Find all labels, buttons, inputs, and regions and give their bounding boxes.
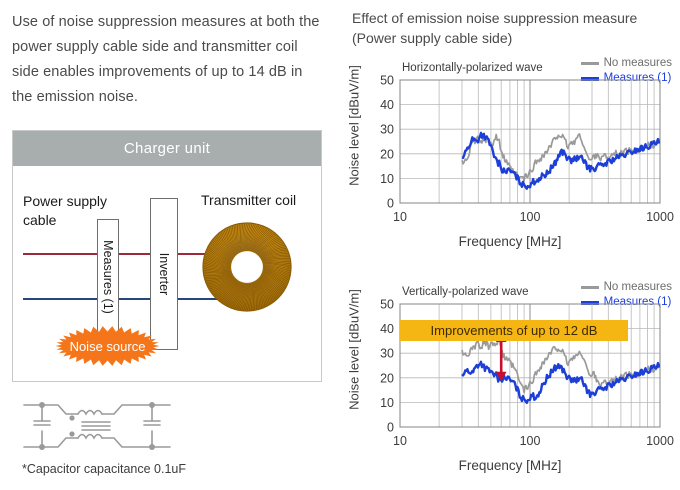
left-column: Use of noise suppression measures at bot…: [0, 0, 340, 490]
improvement-banner: Improvements of up to 12 dB: [400, 320, 628, 341]
capacitor-note: *Capacitor capacitance 0.1uF: [22, 462, 186, 476]
svg-text:10: 10: [380, 396, 394, 410]
diagram-body: Power supply cable Transmitter coil Meas…: [13, 166, 321, 383]
svg-text:20: 20: [380, 371, 394, 385]
svg-text:10: 10: [393, 210, 407, 224]
svg-text:10: 10: [393, 434, 407, 448]
svg-text:10: 10: [380, 172, 394, 186]
filter-circuit-schematic: [22, 398, 172, 454]
chart2-xlabel: Frequency [MHz]: [340, 458, 680, 473]
svg-text:0: 0: [387, 197, 394, 211]
chart2-plot: 01020304050101001000: [340, 282, 680, 457]
transmitter-coil-icon: [201, 221, 293, 313]
measures-box: Measures (1): [97, 219, 119, 334]
charts-heading-line2: (Power supply cable side): [352, 28, 680, 48]
noise-source-label: Noise source: [55, 326, 160, 366]
diagram-header-bar: Charger unit: [13, 131, 321, 166]
svg-text:0: 0: [387, 421, 394, 435]
diagram-header-label: Charger unit: [124, 140, 210, 157]
charger-unit-diagram: Charger unit Power supply cable Transmit…: [12, 130, 322, 382]
charts-heading-line1: Effect of emission noise suppression mea…: [352, 8, 680, 28]
chart-horizontally-polarized: No measures Measures (1) Horizontally-po…: [340, 58, 680, 263]
svg-text:50: 50: [380, 74, 394, 88]
chart1-plot: 01020304050101001000: [340, 58, 680, 233]
svg-text:30: 30: [380, 123, 394, 137]
svg-text:50: 50: [380, 298, 394, 312]
right-column: Effect of emission noise suppression mea…: [340, 0, 680, 490]
svg-text:40: 40: [380, 322, 394, 336]
charts-heading: Effect of emission noise suppression mea…: [352, 8, 680, 48]
svg-text:100: 100: [520, 434, 541, 448]
chart1-xlabel: Frequency [MHz]: [340, 234, 680, 249]
intro-paragraph: Use of noise suppression measures at bot…: [12, 10, 327, 110]
svg-text:1000: 1000: [646, 210, 674, 224]
page-root: Use of noise suppression measures at bot…: [0, 0, 680, 490]
transmitter-coil-label: Transmitter coil: [201, 192, 296, 208]
noise-source-badge: Noise source: [55, 326, 160, 366]
svg-text:40: 40: [380, 98, 394, 112]
measures-box-label: Measures (1): [101, 240, 115, 314]
svg-text:1000: 1000: [646, 434, 674, 448]
svg-text:30: 30: [380, 347, 394, 361]
inverter-box-label: Inverter: [157, 253, 171, 295]
svg-text:20: 20: [380, 147, 394, 161]
svg-text:100: 100: [520, 210, 541, 224]
chart-vertically-polarized: No measures Measures (1) Vertically-pola…: [340, 282, 680, 487]
